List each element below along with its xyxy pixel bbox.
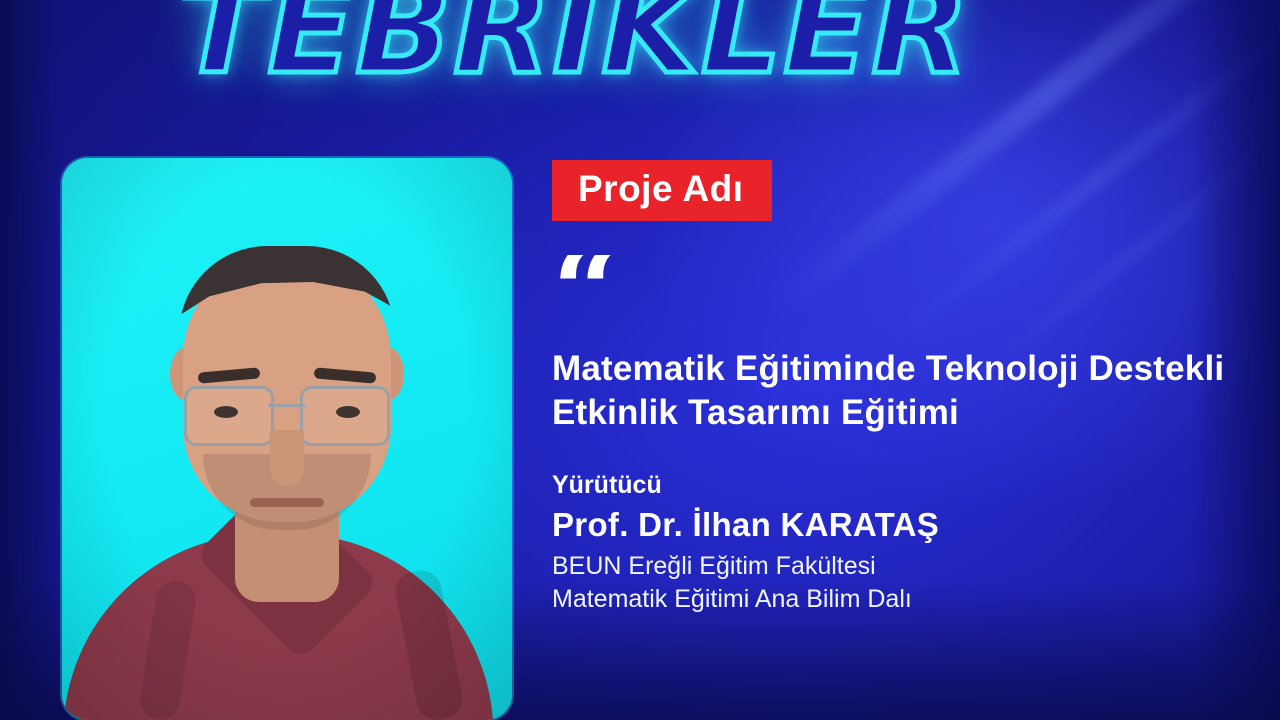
person-name: Prof. Dr. İlhan KARATAŞ <box>552 506 1252 544</box>
role-label: Yürütücü <box>552 471 1252 500</box>
project-name-badge: Proje Adı <box>552 160 772 221</box>
congratulations-poster: TEBRIKLER Proje Adı “ Matematik Eğitimin… <box>0 0 1280 720</box>
project-title: Matematik Eğitiminde Teknoloji Destekli … <box>552 347 1242 435</box>
glasses-lens-right <box>300 386 390 446</box>
portrait-nose <box>270 430 304 486</box>
glasses-lens-left <box>184 386 274 446</box>
info-column: Proje Adı “ Matematik Eğitiminde Teknolo… <box>552 160 1252 614</box>
affiliation-line-2: Matematik Eğitimi Ana Bilim Dalı <box>552 585 1252 614</box>
affiliation-line-1: BEUN Ereğli Eğitim Fakültesi <box>552 552 1252 581</box>
portrait-mouth <box>250 498 324 507</box>
portrait-photo <box>62 158 512 720</box>
quote-mark-icon: “ <box>552 255 1252 337</box>
